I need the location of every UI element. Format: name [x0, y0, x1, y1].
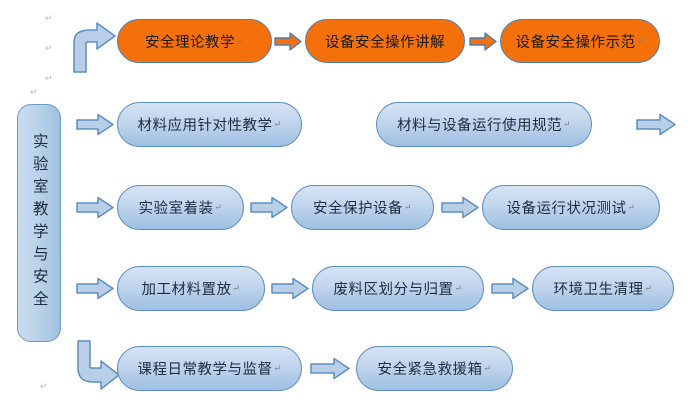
- node-label: 安全保护设备: [313, 197, 403, 218]
- paragraph-mark: ↵: [40, 382, 48, 391]
- arrow-right-blue: [76, 277, 114, 300]
- node-safety-theory-teaching[interactable]: 安全理论教学↵: [117, 19, 272, 63]
- node-label: 废料区划分与归置: [333, 278, 453, 299]
- arrow-right-blue: [76, 196, 114, 219]
- arrow-right-blue: [441, 196, 479, 219]
- node-label: 材料与设备运行使用规范: [397, 114, 562, 135]
- arrow-right-orange: [274, 32, 302, 51]
- arrow-right-blue: [76, 113, 114, 136]
- node-processing-material-placement[interactable]: 加工材料置放↵: [117, 266, 265, 311]
- spine-label-text: 实验室教学与安全: [31, 133, 47, 313]
- node-safety-emergency-rescue-kit[interactable]: 安全紧急救援箱↵: [356, 346, 513, 391]
- node-label: 实验室着装: [138, 197, 213, 218]
- spine-label-laboratory-teaching-and-safety: 实验室教学与安全: [17, 104, 61, 342]
- node-label: 安全理论教学: [145, 31, 235, 52]
- node-label: 课程日常教学与监督: [137, 358, 272, 379]
- elbow-arrow-down-right: [74, 340, 122, 390]
- elbow-arrow-up-right: [70, 22, 118, 74]
- flowchart-canvas: ↵ ↵ ↵ ↵ ↵ 实验室教学与安全 安全理论教学↵ 设备安全操作讲解 设备安全…: [0, 0, 700, 408]
- node-material-and-equipment-operation-standards[interactable]: 材料与设备运行使用规范↵: [376, 102, 592, 147]
- node-label: 环境卫生清理: [553, 278, 643, 299]
- node-waste-area-division-and-storage[interactable]: 废料区划分与归置↵: [312, 266, 484, 311]
- arrow-right-blue: [250, 196, 288, 219]
- node-label: 材料应用针对性教学: [137, 114, 272, 135]
- node-course-daily-teaching-and-supervision[interactable]: 课程日常教学与监督↵: [117, 346, 302, 391]
- paragraph-mark: ↵: [45, 14, 53, 23]
- arrow-right-blue: [271, 277, 309, 300]
- node-laboratory-attire[interactable]: 实验室着装↵: [117, 185, 244, 230]
- node-safety-protection-equipment[interactable]: 安全保护设备↵: [291, 185, 434, 230]
- node-material-application-targeted-teaching[interactable]: 材料应用针对性教学↵: [117, 102, 302, 147]
- arrow-right-blue: [310, 357, 350, 380]
- node-label: 安全紧急救援箱: [377, 358, 482, 379]
- arrow-right-blue: [491, 277, 529, 300]
- paragraph-mark: ↵: [30, 88, 38, 97]
- node-label: 设备运行状况测试: [506, 197, 626, 218]
- node-equipment-operation-status-test[interactable]: 设备运行状况测试↵: [482, 185, 660, 230]
- node-label: 加工材料置放: [141, 278, 231, 299]
- paragraph-mark: ↵: [45, 44, 53, 53]
- node-environmental-sanitation-cleaning[interactable]: 环境卫生清理↵: [532, 266, 674, 311]
- paragraph-mark: ↵: [45, 74, 53, 83]
